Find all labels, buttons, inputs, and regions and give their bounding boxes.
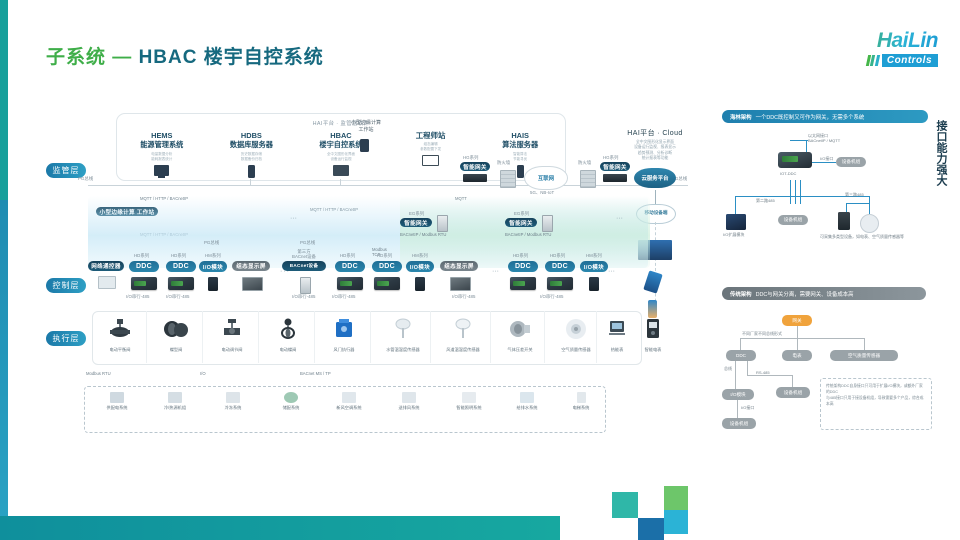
slide-root: 子系统 — HBAC 楼宇自控系统 HaiLin Controls 监管层 控制… [0,0,960,540]
exec-device-label: 蝶型阀 [152,347,200,353]
supervision-system-hems[interactable]: HEMS 能源管理系统 电量数据分析 能耗报表统计 [117,131,207,178]
control-node-ddc-1[interactable]: DDC [129,261,159,272]
system-name: 能源管理系统 [117,140,207,150]
subsystem-label: 电梯系统 [552,405,610,411]
system-code: HAIS [475,131,565,140]
protocol-bacnet-modbus-1: BACnetIP / Modbus RTU [400,232,446,237]
exec-device-label: 热能表 [600,347,634,353]
hailin-bottom-caption: 可采集多类型设备，如电表、空气质量传感器等 [820,234,904,240]
system-desc: 智能算法 节能寻优 [475,152,565,162]
internet-cloud: 互联网 [524,166,568,190]
air-quality-icon-right [860,214,879,233]
rs485-second-label: 第二路485 [756,198,775,204]
network-controller-device [98,276,116,289]
gateway-pill-right[interactable]: 智能网关 [600,162,630,171]
io-module-device [415,277,425,291]
gateway-device-icon [542,215,553,232]
page-title-prefix: 子系统 — [46,47,139,68]
third-party-label: 第三方BACnet设备 [282,249,326,259]
hmi-display-device [242,277,263,291]
vertical-slogan: 接口能力强大 [934,120,948,186]
butterfly-valve-icon [163,318,189,340]
hmi-display-device [450,277,471,291]
series-label: HM系列 [205,253,221,259]
ddc-device [510,277,536,290]
hailin-arch-badge-title: 海林架构 [730,113,752,121]
supervision-bus-line [88,185,688,186]
subsystem-6[interactable]: 智能照明系统 [440,392,498,411]
gateway-series-right: HG系列 [603,155,618,161]
traditional-arch-badge: 传统架构 DDC与网关分离，需要网关、设备成本高 [722,287,926,300]
heat-meter-icon [607,318,627,340]
logo-bars-icon [867,55,879,66]
motor-butterfly-valve-icon [279,318,297,340]
exec-device-label: 空气质量传感器 [550,347,602,353]
server-icon [248,165,255,178]
protocol-bacnet-modbus-2: BACnetIP / Modbus RTU [505,232,551,237]
trunk-line-1 [790,180,791,204]
page-title-main: HBAC 楼宇自控系统 [139,47,324,68]
smart-meter-icon [645,318,661,340]
eg-series-label-1: EG系列 [409,211,424,217]
subsystem-7[interactable]: 给排水系统 [498,392,556,411]
exec-device-10[interactable]: 智能电表 [636,318,670,353]
rs485-label: I/O串行-485 [540,294,563,300]
edge-computer-icon [360,139,369,152]
series-label: HM系列 [412,253,428,259]
exec-device-label: 气体压差开关 [496,347,544,353]
exec-device-label: 电动调节阀 [208,347,256,353]
hai-cloud-platform: HAI平台 · Cloud 全中文图形化显示界面 设备运行监视、报表显示 趋势预… [612,128,698,162]
ellipsis-2: ··· [492,268,499,275]
rs485-trad-label: RS-485 [756,370,770,375]
exec-device-4[interactable]: 风门执行器 [320,318,368,353]
gateway-pill-left[interactable]: 智能网关 [460,162,490,171]
exec-device-5[interactable]: 水管温湿度传感器 [376,318,430,353]
branch-b [797,338,798,350]
supervision-system-hbac[interactable]: HBAC 楼宇自控系统 全中文图形化界面 设备运行监视 [296,131,386,178]
pg-bus-label-mid2: PG总线 [300,240,315,246]
device-unit-right[interactable]: 设备机组 [836,157,866,167]
hai-cloud-title: HAI平台 · Cloud [612,128,698,138]
system-code: HEMS [117,131,207,140]
system-code: 工程师站 [386,131,476,140]
bus-connector [250,179,251,186]
internet-label: 互联网 [525,174,567,182]
ventilation-icon [402,392,416,403]
ddc-device [168,277,194,290]
chiller-icon [168,392,182,403]
traditional-bus-label: 不同厂家不同总线形式 [742,331,782,337]
control-node-ddc-6[interactable]: DDC [545,261,575,272]
system-name: 算法服务器 [475,140,565,150]
traditional-unit-node-2[interactable]: 设备机组 [722,418,756,429]
rs485-label: I/O串行-485 [126,294,149,300]
power-supply-icon [110,392,124,403]
damper-actuator-icon [333,318,355,340]
ddc-device [131,277,157,290]
ddc-device [374,277,400,290]
subsystem-label: 智能照明系统 [440,405,498,411]
ellipsis-3: ··· [608,268,615,275]
eth-line-h [790,140,808,141]
control-valve-icon [222,318,242,340]
eg-gateway-pill-2[interactable]: 智能网关 [505,218,537,227]
exec-device-3[interactable]: 电动蝶阀 [264,318,312,353]
cloud-service-label: 云服务平台 [634,174,676,182]
traditional-aq-node[interactable]: 空气质量传感器 [830,350,898,361]
gateway-device-left [463,174,487,182]
branch-c [864,338,865,350]
firewall-icon-right [580,170,596,188]
subsystem-5[interactable]: 送排风系统 [380,392,438,411]
control-node-ddc-5[interactable]: DDC [508,261,538,272]
firewall-label-left: 防火墙 [497,160,510,166]
traditional-meter-node[interactable]: 电表 [782,350,812,361]
exec-device-label: 智能电表 [636,347,670,353]
subsystem-8[interactable]: 电梯系统 [552,392,610,411]
control-node-io-1[interactable]: I/O模块 [199,261,227,272]
system-desc: 组态编辑 参数配置下发 [386,142,476,152]
subsystem-2[interactable]: 冷冻系统 [204,392,262,411]
system-desc: 全中文图形化界面 设备运行监视 [296,152,386,162]
gw-down-line [797,326,798,338]
gateway-series-left: HG系列 [463,155,478,161]
monitor-icon [154,165,169,176]
logo-subtitle: Controls [882,54,938,67]
subsystem-label: 冷冻系统 [204,405,262,411]
ddc-device [547,277,573,290]
device-unit-center[interactable]: 设备机组 [778,215,808,225]
layer-badge-control: 控制层 [46,278,86,293]
air-quality-sensor-icon [565,318,587,340]
rs485-label: I/O串行-485 [452,294,475,300]
exec-device-label: 电动蝶阀 [264,347,312,353]
tablet-icon [643,270,662,293]
subsystem-label: 送排风系统 [380,405,438,411]
sub-bus-label: 总线 [724,366,732,372]
gateway-device-icon [437,215,448,232]
ellipsis-top-1: ··· [290,215,297,222]
io-expansion-label: I/O扩展模块 [723,232,744,238]
series-label: HD系列 [340,253,355,259]
bacnet-mstp-label: BACnet MS / TP [300,371,331,376]
subsystem-label: 给排水系统 [498,405,556,411]
ddc-down-line [735,361,736,389]
exec-device-9[interactable]: 热能表 [600,318,634,353]
rs485-third-label: 第三路485 [845,192,864,198]
exec-device-2[interactable]: 电动调节阀 [208,318,256,353]
control-node-ddc-2[interactable]: DDC [166,261,196,272]
ddc-device [337,277,363,290]
exec-device-label: 水管温湿度传感器 [376,347,430,353]
balance-valve-icon [110,318,130,340]
hailin-arch-badge: 海林架构 一个DDC既控制又可作为网关，无需多个系统 [722,110,928,123]
control-node-hmi-2[interactable]: 组态显示屏 [440,261,478,271]
control-node-io-2[interactable]: I/O模块 [406,261,434,272]
eg-gateway-pill-1[interactable]: 智能网关 [400,218,432,227]
firewall-label-right: 防火墙 [578,160,591,166]
eth-interface-label: 以太网接口 BACnetIP / MQTT [808,133,840,143]
io-down-line [737,400,738,418]
system-desc: 历史数据存储 数据备份归档 [207,152,297,162]
branch-line-3 [846,203,870,204]
trunk-line-2 [795,180,796,204]
trunk-line-3 [800,180,801,204]
hailin-arch-badge-text: 一个DDC既控制又可作为网关，无需多个系统 [756,113,865,121]
subsystem-label: 供配电系统 [88,405,146,411]
logo-wordmark: HaiLin [820,30,938,52]
decor-square-cyan [664,510,688,534]
eg-series-label-2: EG系列 [514,211,529,217]
subsystem-4[interactable]: 新风空调系统 [320,392,378,411]
io-line [812,162,836,163]
pg-bus-label-left: PG总线 [78,176,93,182]
brand-logo: HaiLin Controls [820,30,938,76]
exec-device-1[interactable]: 蝶型阀 [152,318,200,353]
pg-bus-label-mid1: PG总线 [204,240,219,246]
subsystem-1[interactable]: 冷/热源机组 [146,392,204,411]
control-node-ddc-4[interactable]: DDC [372,261,402,272]
bacnet-device [300,277,311,294]
workstation-icon [333,165,349,176]
elevator-icon [577,392,586,403]
series-label: HM系列 [586,253,602,259]
lighting-icon [462,392,476,403]
decor-square-blue [638,518,664,540]
rs485-label: I/O串行-485 [292,294,315,300]
exec-device-8[interactable]: 空气质量传感器 [550,318,602,353]
decor-square-teal [612,492,638,518]
meter-icon-right [838,212,850,230]
traditional-ddc-node[interactable]: DDC [726,350,756,361]
subsystem-label: 新风空调系统 [320,405,378,411]
ddc-485-line [747,361,748,375]
exec-device-label: 电动平衡阀 [96,347,144,353]
laptop-icon [422,155,439,166]
storage-icon [284,392,298,403]
server-icon [517,165,524,178]
io-module-device [589,277,599,291]
duct-temp-sensor-icon [453,318,473,340]
pressure-switch-icon [509,318,531,340]
series-label: HD系列 [550,253,565,259]
left-accent-bar-top [0,0,8,200]
rs485-label: I/O串行-485 [166,294,189,300]
subsystem-3[interactable]: 储配系统 [262,392,320,411]
series-label: HD系列 [377,253,392,259]
io-module-icon-right [726,214,746,230]
rs485-label: I/O串行-485 [332,294,355,300]
control-node-bacnet[interactable]: BACnet设备 [282,261,326,271]
control-node-io-3[interactable]: I/O模块 [580,261,608,272]
subsystem-0[interactable]: 供配电系统 [88,392,146,411]
485-horizontal [747,375,793,376]
traditional-bus-line [740,338,865,339]
ahu-icon [342,392,356,403]
control-node-hmi-1[interactable]: 组态显示屏 [232,261,270,271]
layer-badge-execution: 执行层 [46,331,86,346]
system-code: HDBS [207,131,297,140]
series-label: HD系列 [171,253,186,259]
traditional-arch-badge-title: 传统架构 [730,290,752,298]
phone-icon [648,300,657,318]
decor-square-green [664,486,688,510]
subsystem-label: 储配系统 [262,405,320,411]
system-name: 楼宇自控系统 [296,140,386,150]
exec-device-label: 风道温湿度传感器 [436,347,490,353]
subsystem-label: 冷/热源机组 [146,405,204,411]
pipe-temp-sensor-icon [393,318,413,340]
control-node-net[interactable]: 网络通控器 [88,261,124,271]
exec-device-label: 风门执行器 [320,347,368,353]
exec-device-7[interactable]: 气体压差开关 [496,318,544,353]
water-icon [520,392,534,403]
page-title: 子系统 — HBAC 楼宇自控系统 [46,42,324,69]
io-module-device [208,277,218,291]
system-name: 数据库服务器 [207,140,297,150]
decor-teal-bar [0,516,560,540]
exec-device-0[interactable]: 电动平衡阀 [96,318,144,353]
cloud-down-line [655,190,656,204]
iot-ddc-label: IOT-DDC [780,171,796,176]
branch-line-1 [735,196,736,214]
io-port-label: I/O接口 [741,405,754,411]
edge-workstation-label: 小型边缘计算 工作站 [340,120,392,134]
branch-a [740,338,741,350]
cloud-service-node[interactable]: 云服务平台 [634,168,676,188]
traditional-io-node[interactable]: I/O模块 [722,389,754,400]
series-label: HD系列 [134,253,149,259]
system-desc: 电量数据分析 能耗报表统计 [117,152,207,162]
supervision-system-hdbs[interactable]: HDBS 数据库服务器 历史数据存储 数据备份归档 [207,131,297,178]
bus-connector [340,179,341,185]
firewall-icon-left [500,170,516,188]
traditional-arch-badge-text: DDC与网关分离，需要网关、设备成本高 [756,290,854,298]
branch-line-2 [869,196,870,214]
io-label: I/O [200,371,206,376]
traditional-unit-node-1[interactable]: 设备机组 [776,387,810,398]
control-node-ddc-3[interactable]: DDC [335,261,365,272]
traditional-gateway-node[interactable]: 网关 [782,315,812,326]
modbus-rtu-label: Modbus RTU [86,371,111,376]
traditional-note: 传统架构DDC自身接口只可用于扩展I/O模块，或额外厂家的DDC 与485接口只… [820,378,932,430]
series-label: HD系列 [513,253,528,259]
iot-ddc-device[interactable] [778,152,812,168]
hai-cloud-desc: 全中文图形化显示界面 设备运行监视、报表显示 趋势预测、分析诊断 统计报表等功能 [612,140,698,162]
exec-device-6[interactable]: 风道温湿度传感器 [436,318,490,353]
485-down [792,375,793,387]
ellipsis-top-2: ··· [616,215,623,222]
refrigeration-icon [226,392,240,403]
gateway-device-right [603,174,627,182]
